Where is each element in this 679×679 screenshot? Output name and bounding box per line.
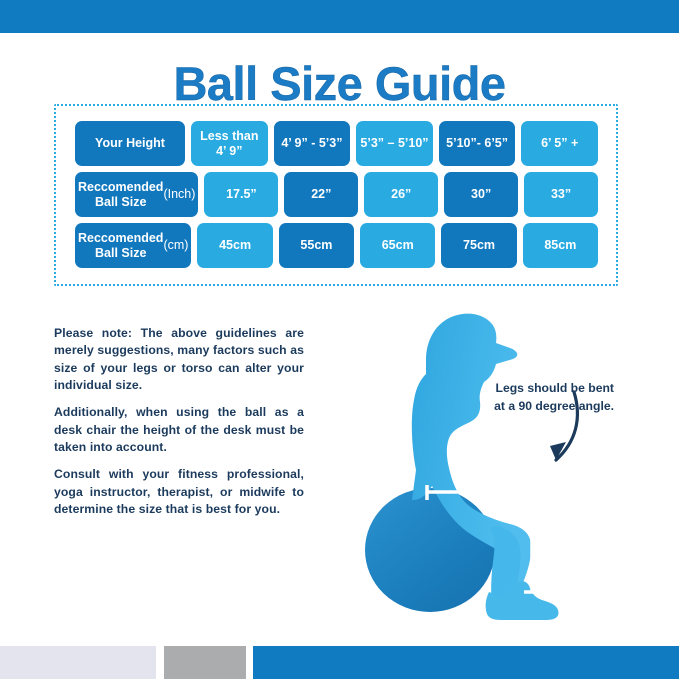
table-cell: 33” (524, 172, 598, 217)
table-cell: 55cm (279, 223, 354, 268)
table-cell: 4’ 9” - 5’3” (274, 121, 351, 166)
size-guide-table: Your Height Less than 4’ 9” 4’ 9” - 5’3”… (75, 121, 598, 274)
table-cell: 17.5” (204, 172, 278, 217)
row-header-label: Your Height (95, 136, 165, 150)
row-header-label: Reccomended Ball Size (78, 180, 163, 209)
row-header-unit: (Inch) (163, 187, 195, 201)
bottom-accent-bar-gray (164, 646, 246, 679)
row-header-label: Reccomended Ball Size (78, 231, 163, 260)
table-cell: 85cm (523, 223, 598, 268)
table-cell: Less than 4’ 9” (191, 121, 268, 166)
table-row: Reccomended Ball Size (Inch) 17.5” 22” 2… (75, 172, 598, 217)
note-paragraph: Additionally, when using the ball as a d… (54, 404, 304, 456)
table-cell: 30” (444, 172, 518, 217)
table-cell: 75cm (441, 223, 516, 268)
bottom-accent-bar-lavender (0, 646, 156, 679)
table-cell: 22” (284, 172, 358, 217)
notes-block: Please note: The above guidelines are me… (54, 325, 304, 518)
row-header-unit: (cm) (163, 238, 188, 252)
table-cell: 5’10”- 6’5” (439, 121, 516, 166)
table-cell: 26” (364, 172, 438, 217)
note-paragraph: Consult with your fitness professional, … (54, 466, 304, 518)
curved-pointer-arrow (550, 392, 577, 460)
table-cell: 6’ 5” + (521, 121, 598, 166)
infographic-page: Ball Size Guide Your Height Less than 4’… (0, 0, 679, 679)
table-cell: 65cm (360, 223, 435, 268)
bottom-accent-bar-blue (253, 646, 679, 679)
table-row: Your Height Less than 4’ 9” 4’ 9” - 5’3”… (75, 121, 598, 166)
row-header-cell: Reccomended Ball Size (cm) (75, 223, 191, 268)
table-row: Reccomended Ball Size (cm) 45cm 55cm 65c… (75, 223, 598, 268)
row-header-cell: Reccomended Ball Size (Inch) (75, 172, 198, 217)
note-paragraph: Please note: The above guidelines are me… (54, 325, 304, 394)
exercise-ball (365, 488, 495, 612)
top-accent-bar (0, 0, 679, 33)
seated-person-illustration (350, 300, 600, 620)
page-title: Ball Size Guide (0, 60, 679, 107)
row-header-cell: Your Height (75, 121, 185, 166)
table-cell: 45cm (197, 223, 272, 268)
table-cell: 5’3” – 5’10” (356, 121, 433, 166)
